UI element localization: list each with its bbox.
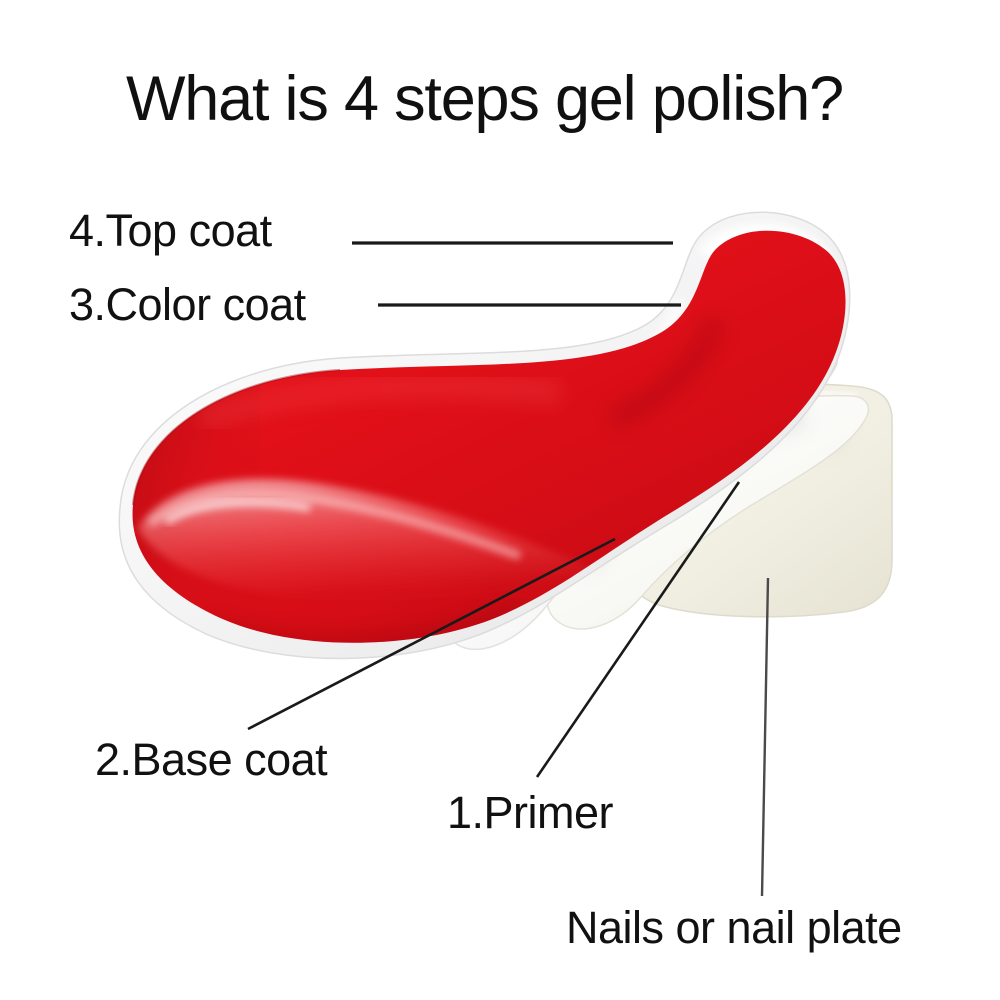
label-nail-plate: Nails or nail plate — [566, 905, 902, 950]
leader-line-nail-plate — [762, 578, 768, 896]
label-base-coat: 2.Base coat — [95, 737, 327, 782]
label-primer: 1.Primer — [447, 790, 613, 835]
label-top-coat: 4.Top coat — [69, 208, 272, 253]
page-title: What is 4 steps gel polish? — [126, 68, 843, 131]
nail-layers-illustration — [0, 0, 1000, 1000]
label-color-coat: 3.Color coat — [69, 282, 306, 327]
diagram-page: What is 4 steps gel polish? 4.Top coat 3… — [0, 0, 1000, 1000]
